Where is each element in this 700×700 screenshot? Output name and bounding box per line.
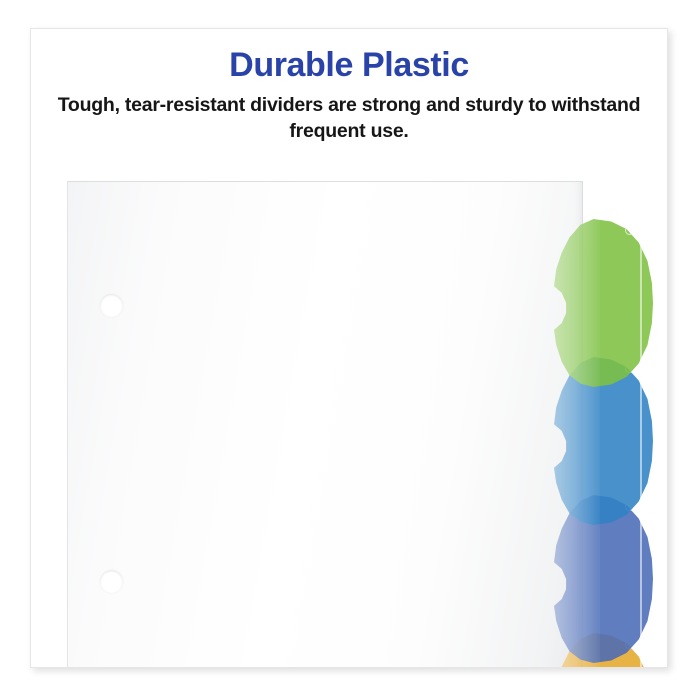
tab-edge-highlight <box>640 505 642 653</box>
tab-edge-highlight <box>640 643 642 668</box>
divider-sheet <box>67 181 583 668</box>
tab-edge-highlight <box>640 367 642 515</box>
tab-edge-highlight <box>640 229 642 377</box>
page-title: Durable Plastic <box>51 47 647 84</box>
tab-column <box>543 181 668 668</box>
tab-hang-hole-icon <box>625 226 634 235</box>
product-image-card: Durable Plastic Tough, tear-resistant di… <box>30 28 668 668</box>
headline-block: Durable Plastic Tough, tear-resistant di… <box>31 47 667 145</box>
product-subtitle: Tough, tear-resistant dividers are stron… <box>51 93 647 145</box>
punch-hole-bottom-icon <box>100 570 123 593</box>
divider-tab-green <box>543 219 653 387</box>
punch-hole-top-icon <box>100 294 123 317</box>
tab-translucent-overlay <box>543 219 600 387</box>
